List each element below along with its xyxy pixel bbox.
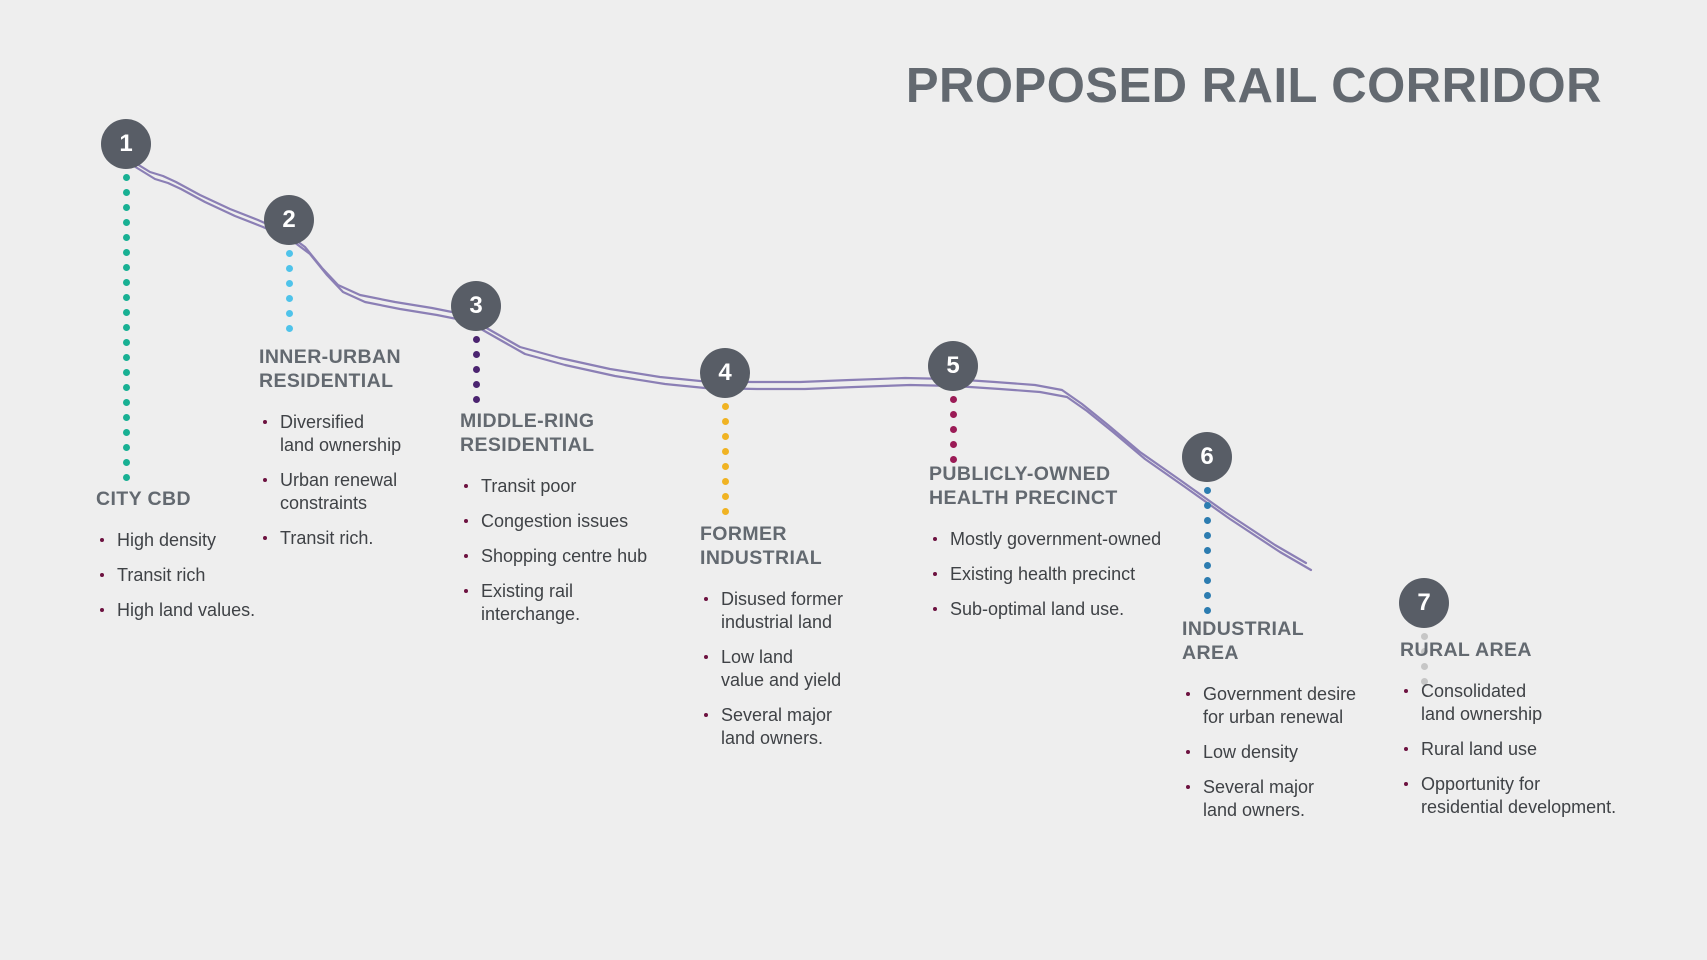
column-heading-7: RURAL AREA: [1400, 639, 1630, 663]
column-heading-2: INNER-URBAN RESIDENTIAL: [259, 346, 439, 394]
node-marker-4[interactable]: 4: [700, 348, 750, 398]
connector-dot: [722, 403, 729, 410]
connector-dot: [473, 351, 480, 358]
node-number-4: 4: [718, 359, 731, 387]
node-marker-7[interactable]: 7: [1399, 578, 1449, 628]
bullet-item: High density: [96, 529, 271, 552]
connector-dot: [1204, 592, 1211, 599]
connector-dot: [123, 204, 130, 211]
bullet-item: Several major land owners.: [1182, 776, 1367, 822]
connector-dot: [123, 429, 130, 436]
column-bullets-3: Transit poorCongestion issuesShopping ce…: [460, 475, 660, 626]
connector-dot: [286, 310, 293, 317]
bullet-item: Mostly government-owned: [929, 528, 1189, 551]
column-bullets-5: Mostly government-ownedExisting health p…: [929, 528, 1189, 621]
node-marker-1[interactable]: 1: [101, 119, 151, 169]
column-6: INDUSTRIAL AREA Government desire for ur…: [1182, 618, 1367, 834]
node-number-7: 7: [1417, 589, 1430, 617]
connector-dot: [1204, 562, 1211, 569]
column-bullets-6: Government desire for urban renewalLow d…: [1182, 683, 1367, 822]
connector-dot: [722, 478, 729, 485]
connector-dot: [950, 426, 957, 433]
connector-dot: [123, 294, 130, 301]
connector-dot: [123, 474, 130, 481]
node-number-2: 2: [282, 206, 295, 234]
column-4: FORMER INDUSTRIAL Disused former industr…: [700, 523, 885, 762]
connector-dot: [1204, 607, 1211, 614]
connector-dot: [722, 433, 729, 440]
connector-dot: [123, 399, 130, 406]
bullet-item: Shopping centre hub: [460, 545, 660, 568]
node-number-6: 6: [1200, 443, 1213, 471]
connector-dot: [123, 234, 130, 241]
connector-dot: [950, 411, 957, 418]
bullet-item: Disused former industrial land: [700, 588, 885, 634]
connector-dot: [123, 339, 130, 346]
connector-dot: [1204, 547, 1211, 554]
column-5: PUBLICLY-OWNED HEALTH PRECINCT Mostly go…: [929, 463, 1189, 633]
connector-dot: [722, 463, 729, 470]
connector-dot: [286, 295, 293, 302]
connector-dot: [1204, 502, 1211, 509]
node-number-3: 3: [469, 292, 482, 320]
connector-dot: [722, 508, 729, 515]
node-number-1: 1: [119, 130, 132, 158]
bullet-item: Consolidated land ownership: [1400, 680, 1630, 726]
node-connector-4: [722, 403, 729, 523]
column-bullets-2: Diversified land ownershipUrban renewal …: [259, 411, 439, 550]
node-marker-5[interactable]: 5: [928, 341, 978, 391]
column-bullets-1: High densityTransit richHigh land values…: [96, 529, 271, 622]
connector-dot: [123, 459, 130, 466]
connector-dot: [473, 366, 480, 373]
connector-dot: [123, 354, 130, 361]
bullet-item: Congestion issues: [460, 510, 660, 533]
connector-dot: [950, 456, 957, 463]
column-heading-6: INDUSTRIAL AREA: [1182, 618, 1367, 666]
column-heading-5: PUBLICLY-OWNED HEALTH PRECINCT: [929, 463, 1189, 511]
bullet-item: Transit rich.: [259, 527, 439, 550]
node-marker-2[interactable]: 2: [264, 195, 314, 245]
connector-dot: [950, 441, 957, 448]
node-marker-3[interactable]: 3: [451, 281, 501, 331]
connector-dot: [722, 493, 729, 500]
column-1: CITY CBD High densityTransit richHigh la…: [96, 488, 271, 634]
page-title: PROPOSED RAIL CORRIDOR: [906, 58, 1602, 114]
column-3: MIDDLE-RING RESIDENTIAL Transit poorCong…: [460, 410, 660, 638]
bullet-item: Urban renewal constraints: [259, 469, 439, 515]
connector-dot: [286, 250, 293, 257]
column-bullets-7: Consolidated land ownershipRural land us…: [1400, 680, 1630, 819]
connector-dot: [473, 381, 480, 388]
column-heading-3: MIDDLE-RING RESIDENTIAL: [460, 410, 660, 458]
connector-dot: [123, 369, 130, 376]
node-connector-6: [1204, 487, 1211, 615]
connector-dot: [123, 324, 130, 331]
connector-dot: [286, 265, 293, 272]
column-2: INNER-URBAN RESIDENTIAL Diversified land…: [259, 346, 439, 562]
connector-dot: [286, 325, 293, 332]
connector-dot: [123, 219, 130, 226]
connector-dot: [123, 174, 130, 181]
connector-dot: [722, 418, 729, 425]
bullet-item: Rural land use: [1400, 738, 1630, 761]
connector-dot: [1204, 517, 1211, 524]
bullet-item: Several major land owners.: [700, 704, 885, 750]
connector-dot: [123, 444, 130, 451]
connector-dot: [123, 309, 130, 316]
node-connector-1: [123, 174, 130, 494]
column-heading-1: CITY CBD: [96, 488, 271, 512]
connector-dot: [123, 279, 130, 286]
connector-dot: [1204, 532, 1211, 539]
connector-dot: [950, 396, 957, 403]
node-connector-5: [950, 396, 957, 464]
node-number-5: 5: [946, 352, 959, 380]
connector-dot: [123, 384, 130, 391]
bullet-item: Government desire for urban renewal: [1182, 683, 1367, 729]
connector-dot: [123, 414, 130, 421]
bullet-item: High land values.: [96, 599, 271, 622]
connector-dot: [473, 336, 480, 343]
connector-dot: [1204, 487, 1211, 494]
column-7: RURAL AREA Consolidated land ownershipRu…: [1400, 639, 1630, 831]
connector-dot: [1204, 577, 1211, 584]
connector-dot: [123, 189, 130, 196]
column-bullets-4: Disused former industrial landLow land v…: [700, 588, 885, 750]
connector-dot: [722, 448, 729, 455]
bullet-item: Transit poor: [460, 475, 660, 498]
connector-dot: [286, 280, 293, 287]
bullet-item: Diversified land ownership: [259, 411, 439, 457]
connector-dot: [123, 249, 130, 256]
connector-dot: [123, 264, 130, 271]
bullet-item: Existing health precinct: [929, 563, 1189, 586]
bullet-item: Existing rail interchange.: [460, 580, 660, 626]
bullet-item: Opportunity for residential development.: [1400, 773, 1630, 819]
node-connector-3: [473, 336, 480, 410]
column-heading-4: FORMER INDUSTRIAL: [700, 523, 885, 571]
bullet-item: Low density: [1182, 741, 1367, 764]
infographic-canvas: PROPOSED RAIL CORRIDOR 1 CITY CBD High d…: [0, 0, 1707, 960]
node-connector-2: [286, 250, 293, 346]
bullet-item: Transit rich: [96, 564, 271, 587]
bullet-item: Low land value and yield: [700, 646, 885, 692]
bullet-item: Sub-optimal land use.: [929, 598, 1189, 621]
connector-dot: [473, 396, 480, 403]
node-marker-6[interactable]: 6: [1182, 432, 1232, 482]
